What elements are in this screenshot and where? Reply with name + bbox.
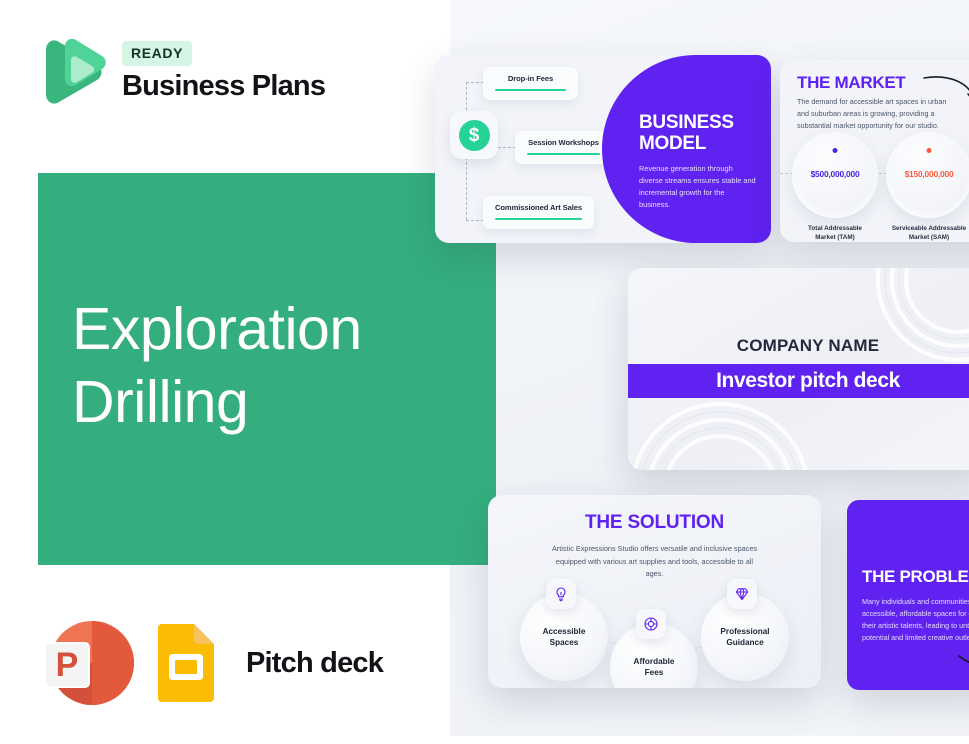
slide-title: BUSINESS MODEL: [639, 112, 734, 155]
metric-sam: $150,000,000 Serviceable Addressable Mar…: [886, 132, 969, 242]
google-slides-icon: [154, 624, 218, 702]
dollar-sign-icon: $: [450, 111, 498, 159]
feature-label: Accessible Spaces: [543, 626, 586, 649]
list-item-label: Drop-in Fees: [508, 74, 553, 83]
feature-label: Professional Guidance: [720, 626, 769, 649]
list-item-label: Session Workshops: [528, 138, 599, 147]
format-badges: P Pitch deck: [42, 620, 383, 706]
curved-arrow-icon: [957, 648, 969, 674]
target-icon: [636, 609, 666, 639]
slide-body: Artistic Expressions Studio offers versa…: [550, 543, 759, 581]
slide-subtitle: COMPANY NAME: [628, 336, 969, 356]
curved-arrow-icon: [922, 74, 969, 108]
metric-value: $150,000,000: [886, 169, 969, 179]
slide-thumbnail-the-problem[interactable]: THE PROBLEM Many individuals and communi…: [847, 500, 969, 690]
feature-node-accessible-spaces: Accessible Spaces: [520, 593, 608, 681]
powerpoint-icon: P: [42, 620, 134, 706]
feature-node-affordable-fees: Affordable Fees: [610, 623, 698, 688]
diamond-icon: [727, 579, 757, 609]
svg-text:P: P: [56, 646, 79, 684]
feature-label: Affordable Fees: [634, 656, 675, 679]
accent-bar: [495, 218, 582, 220]
status-badge: READY: [122, 41, 192, 66]
poster-canvas: Exploration Drilling READY Business Plan…: [0, 0, 969, 744]
metric-dot: [833, 148, 838, 153]
dollar-glyph: $: [459, 120, 490, 151]
slide-title: Investor pitch deck: [628, 364, 969, 398]
slide-title: THE MARKET: [797, 73, 905, 93]
headline-band: Investor pitch deck: [628, 364, 969, 398]
list-item-label: Commissioned Art Sales: [495, 203, 582, 212]
brand-text-block: READY Business Plans: [122, 41, 325, 103]
connector-line-top: [466, 82, 484, 83]
slide-thumbnail-the-market[interactable]: THE MARKET The demand for accessible art…: [780, 60, 969, 242]
metric-tam: $500,000,000 Total Addressable Market (T…: [792, 132, 878, 242]
list-item: Drop-in Fees: [483, 67, 578, 100]
metric-circle: $500,000,000: [792, 132, 878, 218]
metric-dot: [927, 148, 932, 153]
play-triangle-logo: [38, 36, 108, 108]
slide-body: Many individuals and communities lack ac…: [862, 596, 969, 644]
hero-panel: Exploration Drilling: [38, 173, 496, 565]
list-item: Session Workshops: [515, 131, 612, 164]
metric-circle: $150,000,000: [886, 132, 969, 218]
accent-bar: [527, 153, 600, 155]
slide-thumbnail-the-solution[interactable]: THE SOLUTION Artistic Expressions Studio…: [488, 495, 821, 688]
connector-line-middle: [498, 147, 516, 148]
list-item: Commissioned Art Sales: [483, 196, 594, 229]
metric-caption: Serviceable Addressable Market (SAM): [886, 224, 969, 242]
metric-value: $500,000,000: [792, 169, 878, 179]
page-title: Exploration Drilling: [72, 293, 362, 438]
lightbulb-icon: [546, 579, 576, 609]
brand-lockup[interactable]: READY Business Plans: [38, 36, 325, 108]
slide-thumbnail-investor-pitch-deck[interactable]: COMPANY NAME Investor pitch deck: [628, 268, 969, 470]
metric-caption: Total Addressable Market (TAM): [792, 224, 878, 242]
slide-title: THE SOLUTION: [488, 512, 821, 534]
format-label: Pitch deck: [246, 647, 383, 680]
slide-thumbnail-business-model[interactable]: $ Drop-in Fees Session Workshops Commiss…: [435, 55, 771, 243]
connector-line-bottom: [466, 220, 484, 221]
accent-bar: [495, 89, 566, 91]
slide-title: THE PROBLEM: [862, 567, 969, 587]
slide-body: Revenue generation through diverse strea…: [639, 163, 757, 211]
feature-node-professional-guidance: Professional Guidance: [701, 593, 789, 681]
brand-name: Business Plans: [122, 70, 325, 103]
